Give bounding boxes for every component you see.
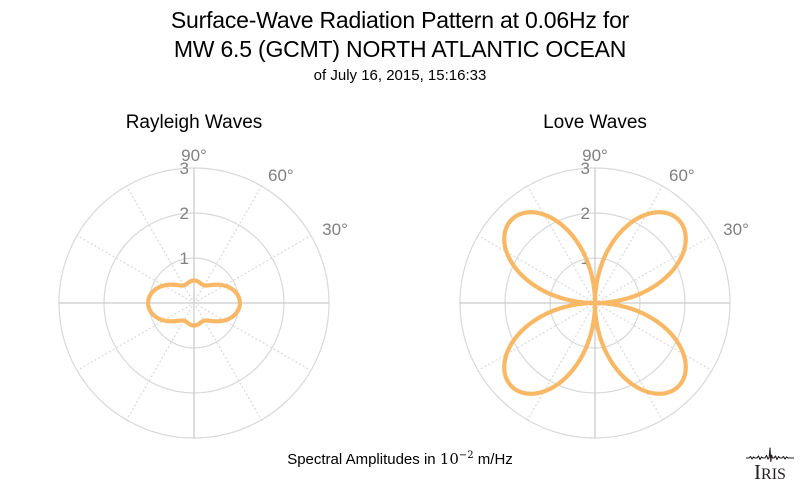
polar-axes-love: 12330°60°90° — [414, 122, 776, 484]
footer-base: 10 — [440, 450, 459, 468]
radiation-pattern-figure: Surface-Wave Radiation Pattern at 0.06Hz… — [0, 0, 800, 493]
footer-units: 10−2 — [440, 450, 474, 468]
footer-prefix: Spectral Amplitudes in — [287, 451, 440, 468]
angular-gridline-150 — [77, 236, 194, 304]
iris-letter-i: I — [754, 460, 761, 484]
footer-exponent: −2 — [459, 450, 474, 461]
angular-tick-label-60: 60° — [268, 166, 294, 185]
iris-wordmark: IRIS — [744, 462, 796, 485]
angular-gridline-30 — [194, 236, 311, 304]
angular-tick-label-90: 90° — [181, 146, 207, 165]
figure-title-block: Surface-Wave Radiation Pattern at 0.06Hz… — [0, 6, 800, 87]
iris-letters-ris: RIS — [761, 466, 786, 483]
angular-tick-label-30: 30° — [322, 220, 348, 239]
title-line-2: MW 6.5 (GCMT) NORTH ATLANTIC OCEAN — [0, 35, 800, 64]
angular-gridline-210 — [77, 303, 194, 371]
radial-tick-label-2: 2 — [180, 204, 189, 223]
angular-tick-label-60: 60° — [669, 166, 695, 185]
angular-tick-label-30: 30° — [723, 220, 749, 239]
footer-suffix: m/Hz — [474, 451, 513, 468]
title-line-1: Surface-Wave Radiation Pattern at 0.06Hz… — [0, 6, 800, 35]
radial-tick-label-2: 2 — [581, 204, 590, 223]
seismogram-trace-icon — [744, 447, 796, 463]
radial-tick-label-1: 1 — [180, 249, 189, 268]
figure-footer-caption: Spectral Amplitudes in 10−2 m/Hz — [0, 450, 800, 468]
iris-logo: IRIS — [744, 447, 796, 487]
angular-gridline-330 — [194, 303, 311, 371]
polar-axes-rayleigh: 12330°60°90° — [13, 122, 375, 484]
polar-plot-love: 12330°60°90° — [414, 122, 776, 489]
figure-subtitle: of July 16, 2015, 15:16:33 — [0, 65, 800, 87]
polar-plot-rayleigh: 12330°60°90° — [13, 122, 375, 489]
angular-tick-label-90: 90° — [582, 146, 608, 165]
